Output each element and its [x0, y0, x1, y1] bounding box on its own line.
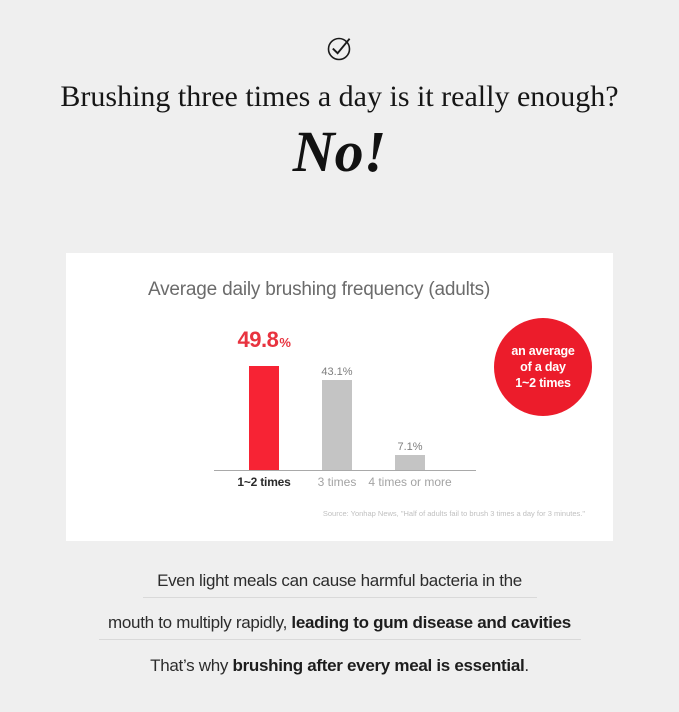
bar-chart: 49.8% 43.1% 7.1% 1~2 times 3 times 4 tim… — [66, 253, 613, 541]
badge-line-3: 1~2 times — [511, 375, 574, 391]
category-label-1: 1~2 times — [219, 475, 309, 489]
average-badge: an average of a day 1~2 times — [494, 318, 592, 416]
category-label-3: 4 times or more — [355, 475, 465, 489]
check-circle-icon — [0, 33, 679, 67]
bar-1-2-times — [249, 366, 279, 470]
footer-line-1: Even light meals can cause harmful bacte… — [0, 570, 679, 592]
chart-source-note: Source: Yonhap News, "Half of adults fai… — [66, 509, 585, 518]
bar-value-label-1: 49.8% — [224, 327, 304, 353]
chart-panel: Average daily brushing frequency (adults… — [66, 253, 613, 541]
answer-text: No! — [0, 121, 679, 183]
footer-line-3-plain: That’s why — [150, 656, 232, 675]
badge-line-1: an average — [511, 343, 574, 359]
bar-value-label-2: 43.1% — [307, 366, 367, 378]
footer-line-3-bold: brushing after every meal is essential — [233, 656, 525, 675]
bar-value-suffix-1: % — [279, 335, 290, 350]
footer-line-2: mouth to multiply rapidly, leading to gu… — [0, 612, 679, 634]
footer-line-3-tail: . — [524, 656, 528, 675]
footer-line-3: That’s why brushing after every meal is … — [0, 655, 679, 677]
badge-line-2: of a day — [511, 359, 574, 375]
bar-3-times — [322, 380, 352, 470]
bar-value-number-1: 49.8 — [238, 327, 279, 352]
bar-value-label-3: 7.1% — [380, 441, 440, 453]
footer-text-block: Even light meals can cause harmful bacte… — [0, 561, 679, 677]
footer-line-2-plain: mouth to multiply rapidly, — [108, 613, 291, 632]
infographic-page: Brushing three times a day is it really … — [0, 33, 679, 712]
bar-4-times-or-more — [395, 455, 425, 470]
footer-line-2-bold: leading to gum disease and cavities — [291, 613, 571, 632]
page-headline: Brushing three times a day is it really … — [0, 79, 679, 115]
chart-axis-line — [214, 470, 476, 471]
